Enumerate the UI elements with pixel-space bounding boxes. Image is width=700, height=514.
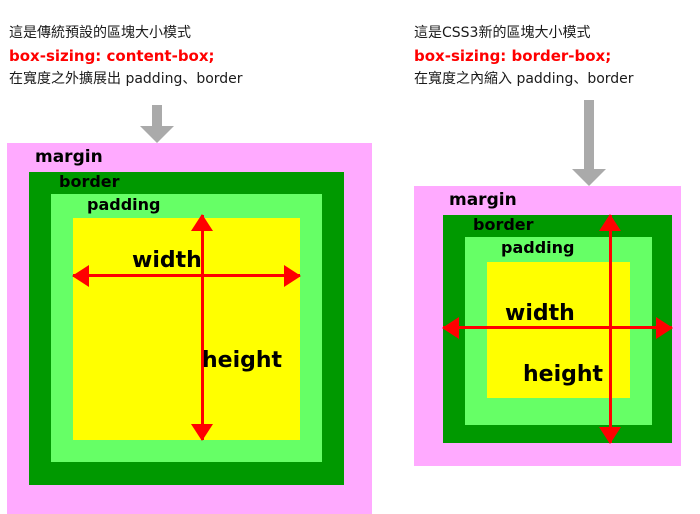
box-model-diagram-content-box: margin border padding width height — [7, 143, 372, 514]
box-model-diagram-border-box: margin border padding width height — [414, 186, 681, 466]
width-arrow-line-right — [443, 326, 672, 329]
caption-left-code: box-sizing: content-box; — [9, 44, 243, 68]
width-arrow-head-right-right — [656, 317, 673, 339]
height-label-right: height — [523, 362, 603, 387]
width-arrow-head-right-left — [284, 265, 301, 287]
down-arrow-icon-left — [140, 105, 174, 143]
padding-label-right: padding — [501, 238, 574, 257]
caption-right-code: box-sizing: border-box; — [414, 44, 634, 68]
down-arrow-icon-right — [572, 100, 606, 186]
border-label-left: border — [59, 172, 120, 191]
width-measure-arrow-left — [73, 274, 300, 277]
caption-right-line1: 這是CSS3新的區塊大小模式 — [414, 22, 634, 44]
margin-label-right: margin — [449, 190, 517, 210]
down-arrow-head-right — [572, 169, 606, 186]
width-arrow-head-left-right — [442, 317, 459, 339]
height-arrow-line-right — [609, 215, 612, 443]
height-arrow-head-down-left — [191, 424, 213, 441]
caption-left: 這是傳統預設的區塊大小模式 box-sizing: content-box; 在… — [9, 22, 243, 90]
height-label-left: height — [202, 348, 282, 373]
height-arrow-head-up-right — [599, 214, 621, 231]
caption-left-line3: 在寬度之外擴展出 padding、border — [9, 68, 243, 90]
width-label-right: width — [505, 301, 575, 326]
width-label-left: width — [132, 248, 202, 273]
caption-left-line1: 這是傳統預設的區塊大小模式 — [9, 22, 243, 44]
height-arrow-head-down-right — [599, 427, 621, 444]
width-arrow-head-left-left — [72, 265, 89, 287]
diagram-canvas: 這是傳統預設的區塊大小模式 box-sizing: content-box; 在… — [0, 0, 700, 514]
padding-label-left: padding — [87, 195, 160, 214]
height-arrow-head-up-left — [191, 214, 213, 231]
border-label-right: border — [473, 215, 534, 234]
width-measure-arrow-right — [443, 326, 672, 329]
caption-right: 這是CSS3新的區塊大小模式 box-sizing: border-box; 在… — [414, 22, 634, 90]
caption-right-line3: 在寬度之內縮入 padding、border — [414, 68, 634, 90]
down-arrow-head-left — [140, 126, 174, 143]
down-arrow-shaft-left — [152, 105, 162, 127]
down-arrow-shaft-right — [584, 100, 594, 170]
height-measure-arrow-right — [609, 215, 612, 443]
width-arrow-line-left — [73, 274, 300, 277]
margin-label-left: margin — [35, 147, 103, 167]
